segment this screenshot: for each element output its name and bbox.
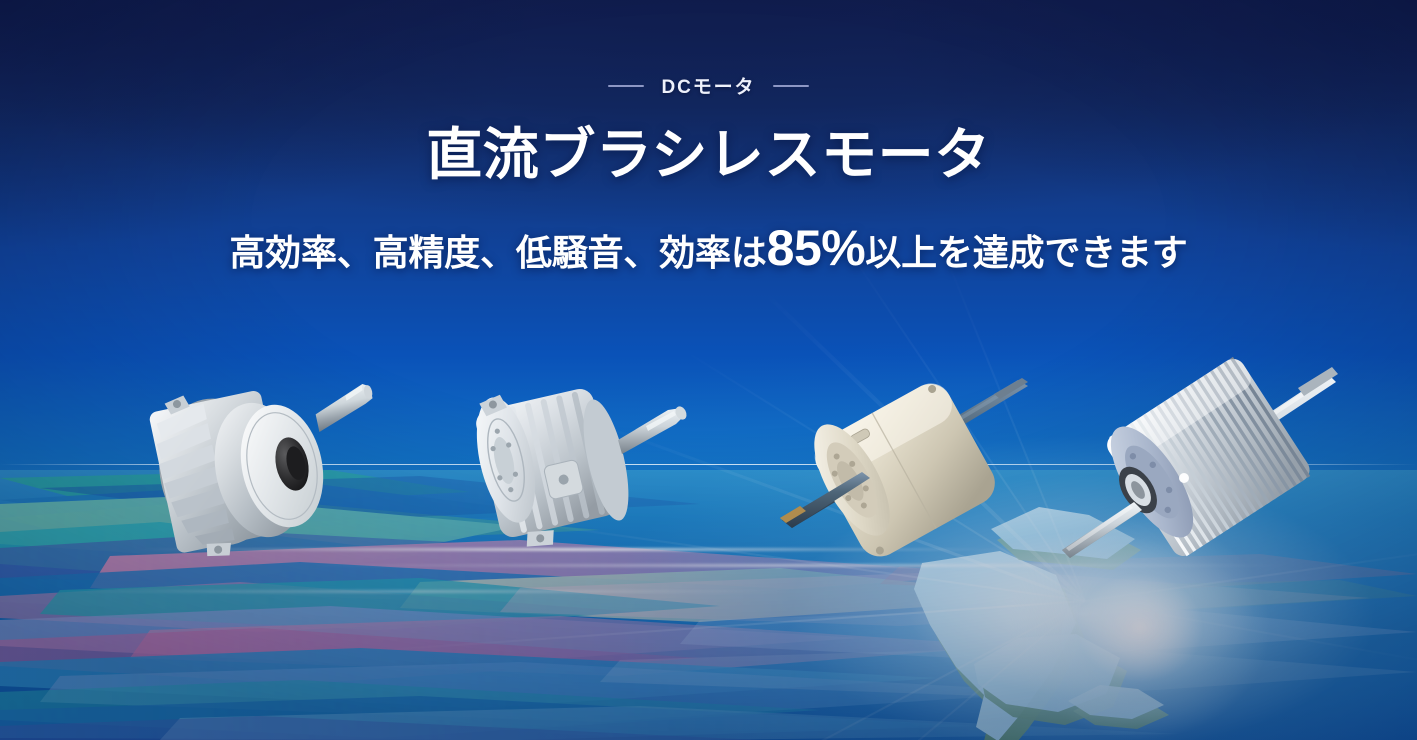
hero-text-block: DCモータ 直流ブラシレスモータ 高効率、高精度、低騒音、効率は85%以上を達成… bbox=[0, 72, 1417, 273]
product-finned-flange-motor[interactable] bbox=[140, 372, 390, 562]
eyebrow-label: DCモータ bbox=[662, 72, 756, 99]
dash-left-icon bbox=[608, 85, 644, 87]
page-title: 直流ブラシレスモータ bbox=[0, 125, 1417, 185]
hero-banner: DCモータ 直流ブラシレスモータ 高効率、高精度、低騒音、効率は85%以上を達成… bbox=[0, 0, 1417, 740]
eyebrow: DCモータ bbox=[0, 72, 1417, 99]
product-ribbed-cylinder-motor[interactable] bbox=[450, 368, 700, 548]
subtitle-prefix: 高効率、高精度、低騒音、効率は bbox=[229, 233, 766, 273]
product-fine-finned-motor[interactable] bbox=[1060, 352, 1380, 562]
subtitle-suffix: 以上を達成できます bbox=[865, 233, 1187, 273]
subtitle: 高効率、高精度、低騒音、効率は85%以上を達成できます bbox=[0, 223, 1417, 273]
subtitle-highlight: 85% bbox=[767, 223, 866, 273]
dash-right-icon bbox=[773, 85, 809, 87]
product-beige-drum-motor[interactable] bbox=[770, 352, 1070, 562]
